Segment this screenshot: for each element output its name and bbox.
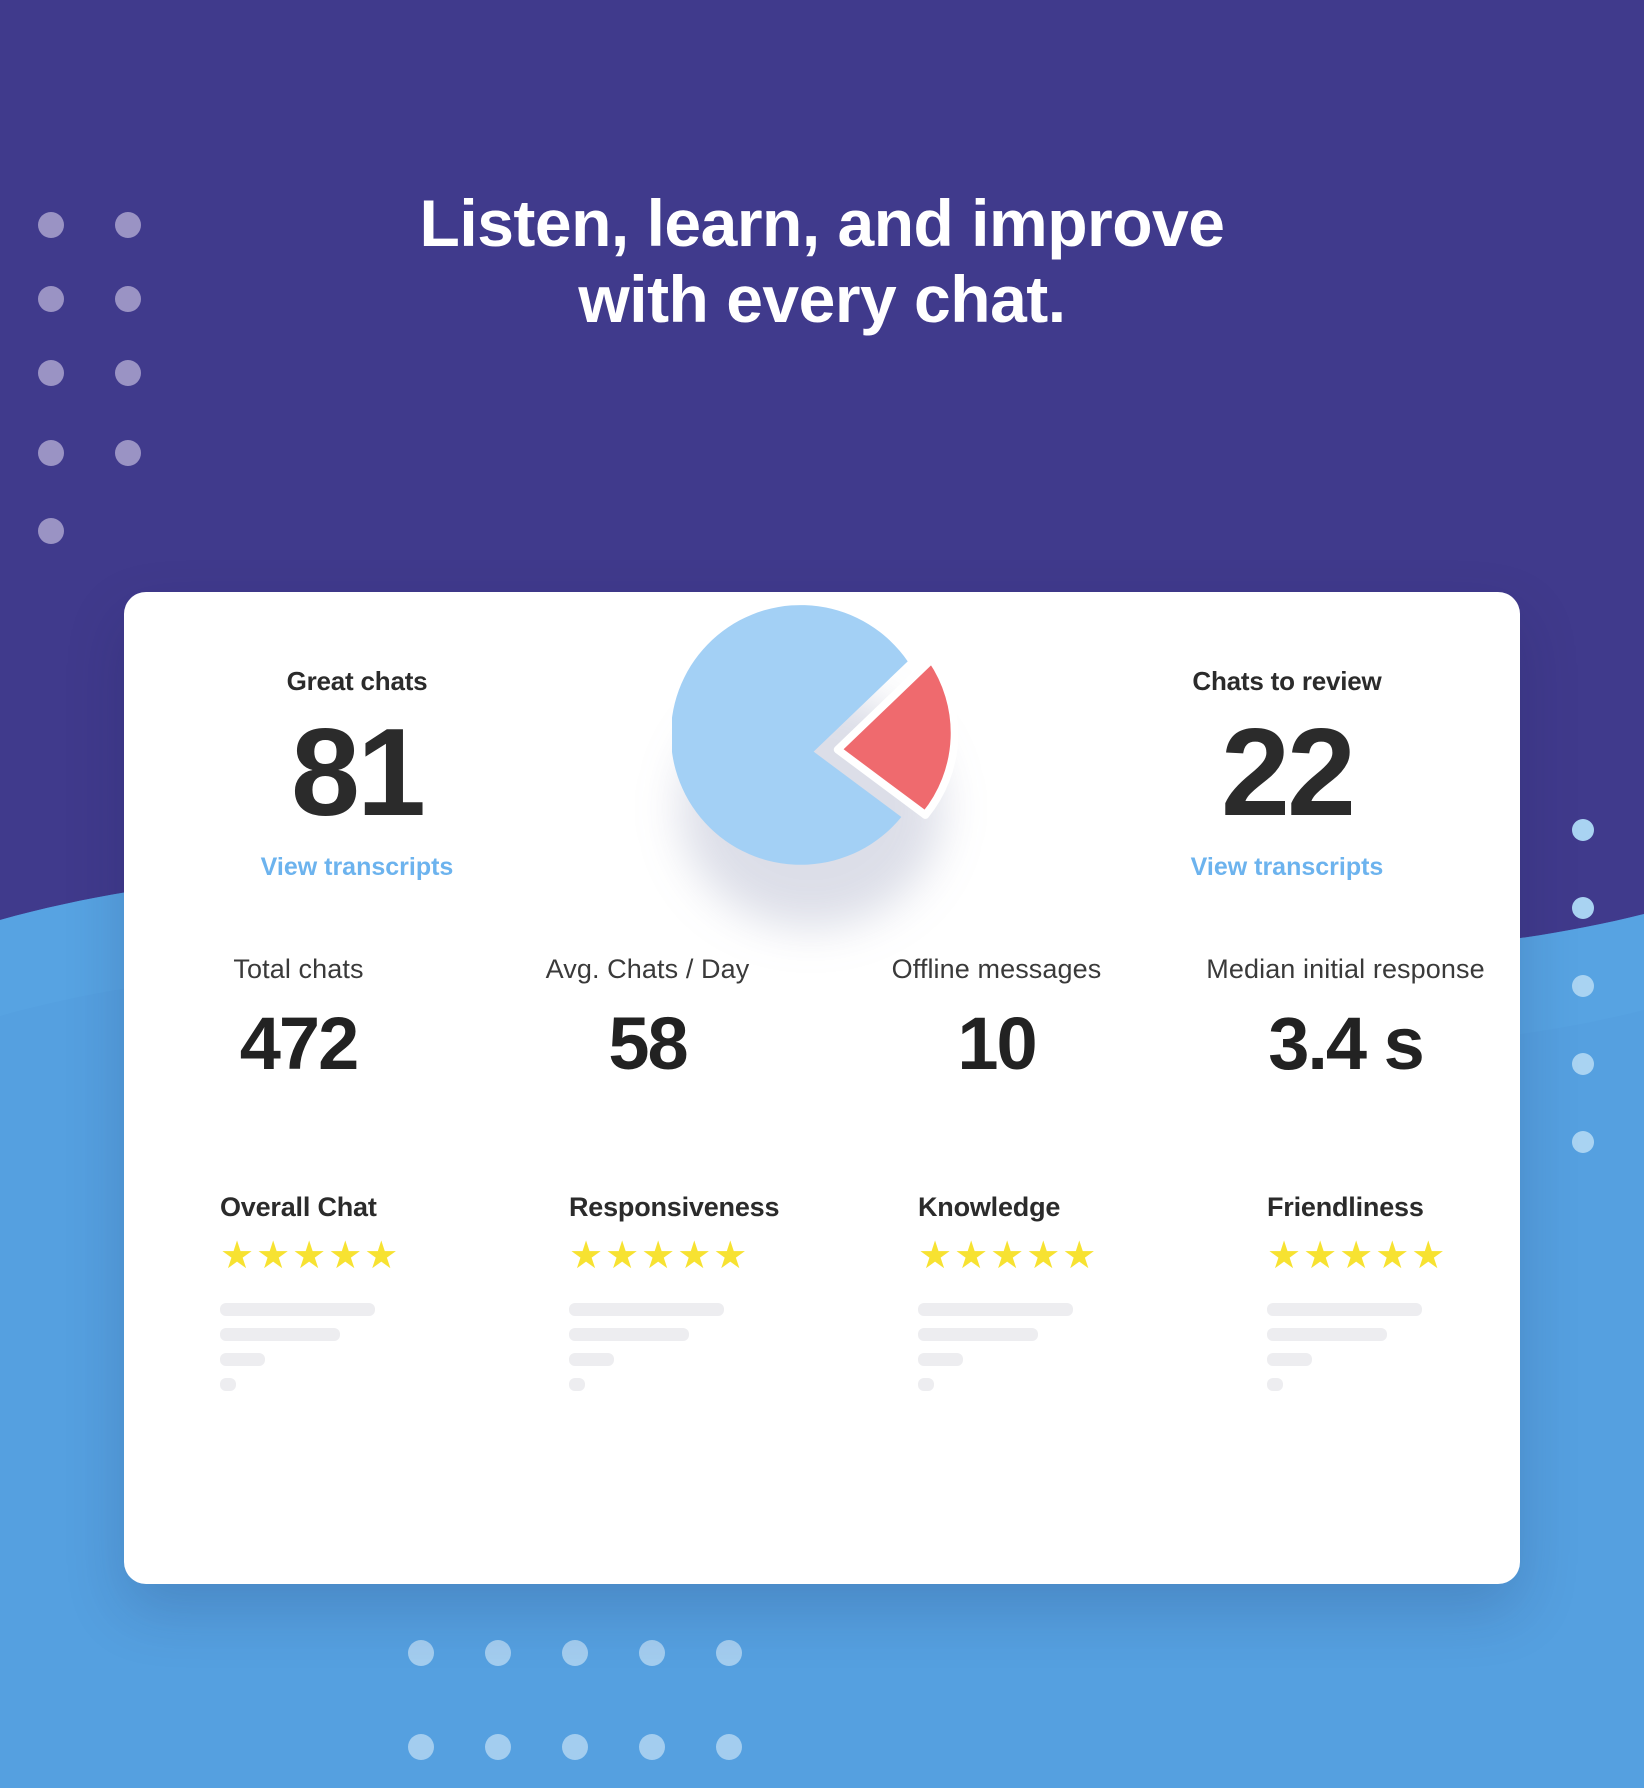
rating-responsiveness: Responsiveness ★★★★★	[473, 1192, 822, 1403]
ratings-row: Overall Chat ★★★★★ Responsiveness ★★★★★	[124, 1192, 1520, 1403]
skeleton-bar	[220, 1378, 236, 1391]
rating-label: Responsiveness	[569, 1192, 822, 1223]
decorative-dot	[38, 360, 64, 386]
decorative-dot	[1572, 1131, 1594, 1153]
star-rating-icon: ★★★★★	[220, 1237, 473, 1275]
rating-overall-chat: Overall Chat ★★★★★	[124, 1192, 473, 1403]
decorative-dot	[1572, 897, 1594, 919]
decorative-dot	[716, 1640, 742, 1666]
page-root: Listen, learn, and improve with every ch…	[0, 0, 1644, 1788]
skeleton-placeholder	[1267, 1303, 1520, 1391]
decorative-dot	[115, 440, 141, 466]
kpi-value: 81	[124, 711, 590, 835]
skeleton-placeholder	[918, 1303, 1171, 1391]
rating-friendliness: Friendliness ★★★★★	[1171, 1192, 1520, 1403]
headline-line-1: Listen, learn, and improve	[420, 186, 1225, 260]
kpi-chats-to-review: Chats to review 22 View transcripts	[1054, 592, 1520, 882]
rating-knowledge: Knowledge ★★★★★	[822, 1192, 1171, 1403]
decorative-dot	[716, 1734, 742, 1760]
skeleton-bar	[569, 1303, 724, 1316]
skeleton-bar	[1267, 1328, 1387, 1341]
star-rating-icon: ★★★★★	[1267, 1237, 1520, 1275]
skeleton-placeholder	[220, 1303, 473, 1391]
stat-avg-chats-per-day: Avg. Chats / Day 58	[473, 954, 822, 1081]
stat-label: Total chats	[124, 954, 473, 985]
page-headline: Listen, learn, and improve with every ch…	[0, 186, 1644, 338]
rating-label: Overall Chat	[220, 1192, 473, 1223]
decorative-dot	[639, 1734, 665, 1760]
decorative-dot-rows-bottom	[0, 1640, 1644, 1780]
view-transcripts-link-chats-to-review[interactable]: View transcripts	[1054, 853, 1520, 882]
skeleton-bar	[220, 1353, 265, 1366]
stat-label: Median initial response	[1171, 954, 1520, 985]
skeleton-bar	[569, 1378, 585, 1391]
stat-offline-messages: Offline messages 10	[822, 954, 1171, 1081]
skeleton-bar	[918, 1328, 1038, 1341]
view-transcripts-link-great-chats[interactable]: View transcripts	[124, 853, 590, 882]
stat-value: 3.4 s	[1171, 1007, 1520, 1081]
rating-label: Knowledge	[918, 1192, 1171, 1223]
rating-label: Friendliness	[1267, 1192, 1520, 1223]
stat-label: Offline messages	[822, 954, 1171, 985]
decorative-dot	[1572, 1053, 1594, 1075]
decorative-dot	[38, 518, 64, 544]
decorative-dot	[1572, 819, 1594, 841]
skeleton-bar	[220, 1328, 340, 1341]
skeleton-bar	[569, 1328, 689, 1341]
stat-median-initial-response: Median initial response 3.4 s	[1171, 954, 1520, 1081]
skeleton-bar	[1267, 1303, 1422, 1316]
stat-value: 472	[124, 1007, 473, 1081]
kpi-great-chats: Great chats 81 View transcripts	[124, 592, 590, 882]
skeleton-bar	[1267, 1378, 1283, 1391]
skeleton-placeholder	[569, 1303, 822, 1391]
star-rating-icon: ★★★★★	[918, 1237, 1171, 1275]
skeleton-bar	[918, 1378, 934, 1391]
dashboard-card: Great chats 81 View transcripts Chats to…	[124, 592, 1520, 1584]
skeleton-bar	[918, 1353, 963, 1366]
kpi-value: 22	[1054, 711, 1520, 835]
stat-value: 58	[473, 1007, 822, 1081]
stat-total-chats: Total chats 472	[124, 954, 473, 1081]
headline-line-2: with every chat.	[0, 262, 1644, 338]
decorative-dot	[485, 1640, 511, 1666]
stat-label: Avg. Chats / Day	[473, 954, 822, 985]
decorative-dot	[485, 1734, 511, 1760]
skeleton-bar	[1267, 1353, 1312, 1366]
decorative-dot	[115, 360, 141, 386]
decorative-dot	[1572, 975, 1594, 997]
kpi-title: Great chats	[124, 666, 590, 697]
stat-value: 10	[822, 1007, 1171, 1081]
kpi-title: Chats to review	[1054, 666, 1520, 697]
kpi-row: Great chats 81 View transcripts Chats to…	[124, 592, 1520, 974]
decorative-dot-column-right	[1572, 805, 1602, 1165]
decorative-dot	[408, 1734, 434, 1760]
secondary-stats-row: Total chats 472 Avg. Chats / Day 58 Offl…	[124, 954, 1520, 1081]
decorative-dot	[562, 1640, 588, 1666]
skeleton-bar	[569, 1353, 614, 1366]
decorative-dot	[408, 1640, 434, 1666]
skeleton-bar	[918, 1303, 1073, 1316]
skeleton-bar	[220, 1303, 375, 1316]
star-rating-icon: ★★★★★	[569, 1237, 822, 1275]
decorative-dot	[38, 440, 64, 466]
pie-chart-svg	[672, 600, 972, 900]
decorative-dot	[562, 1734, 588, 1760]
decorative-dot	[639, 1640, 665, 1666]
pie-chart	[590, 592, 1054, 974]
